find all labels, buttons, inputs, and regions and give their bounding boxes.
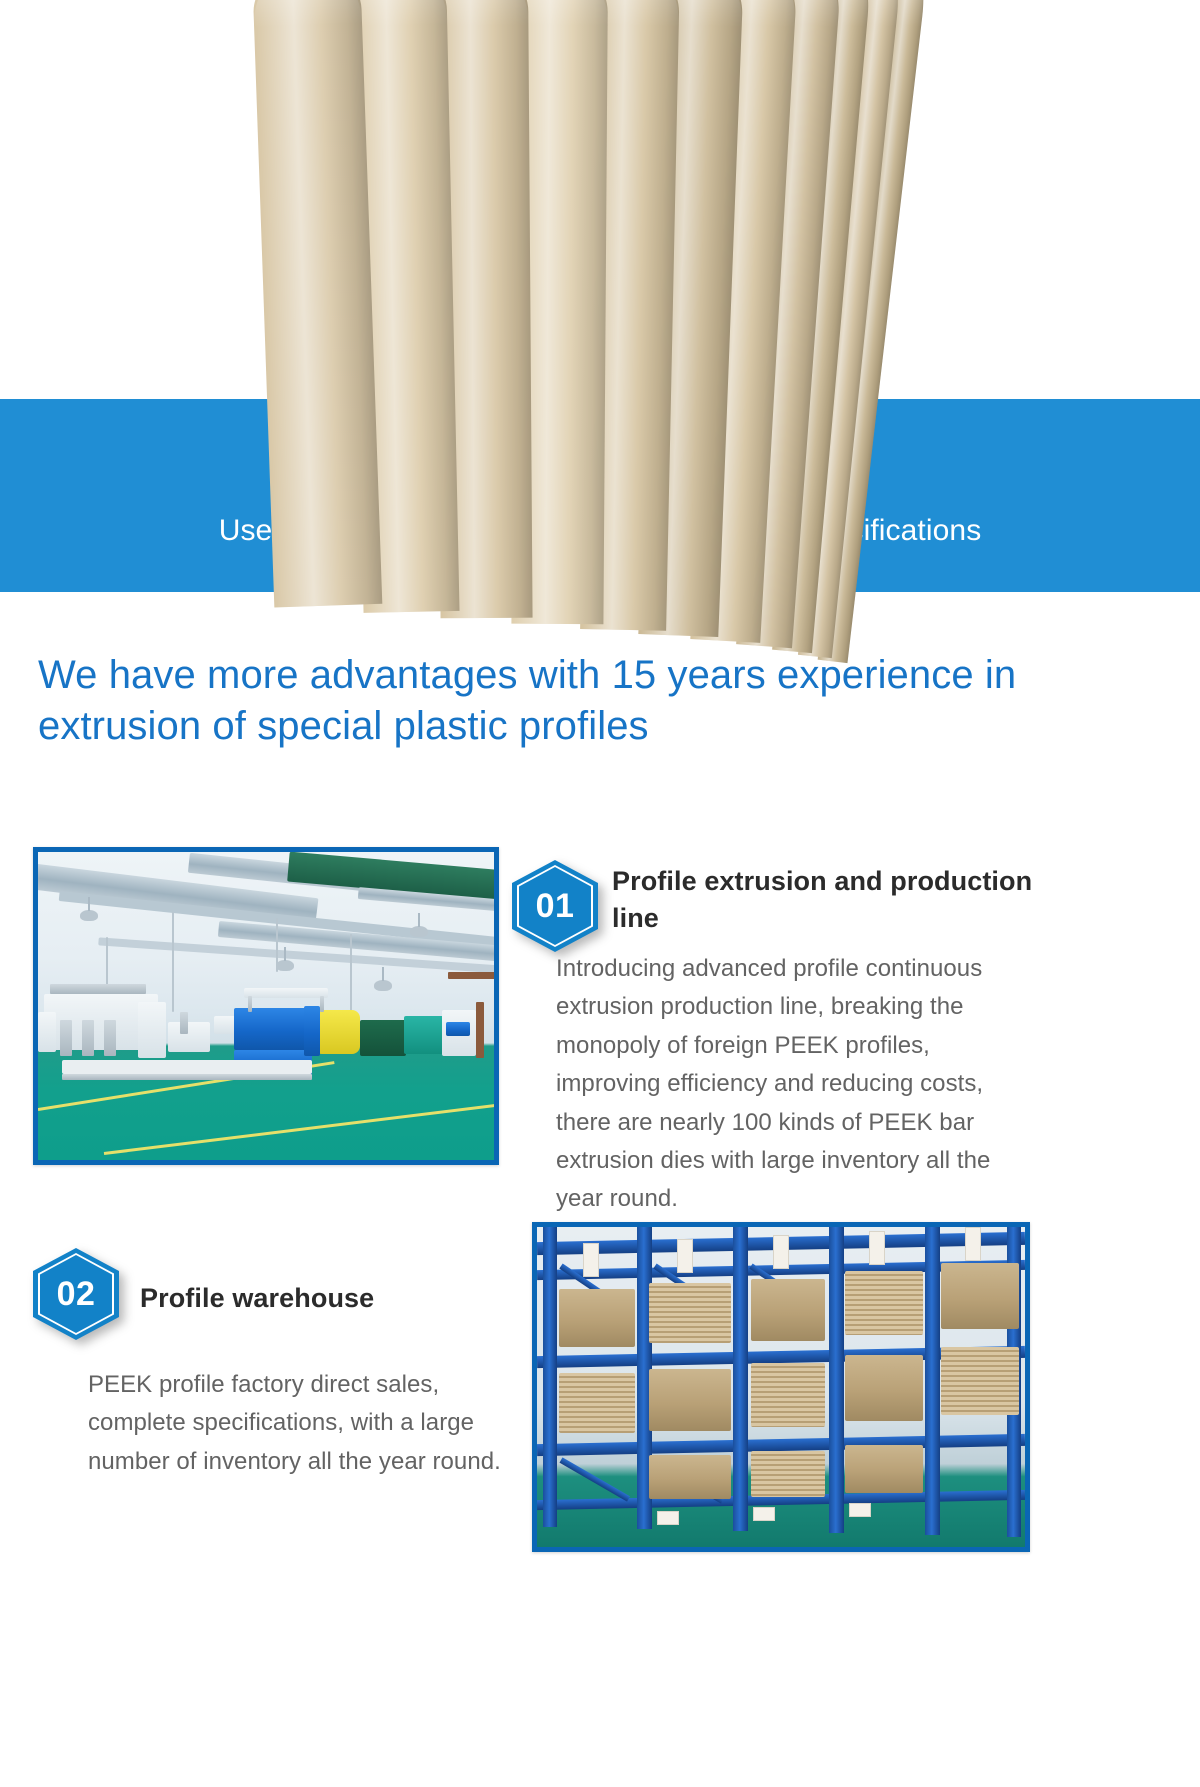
feature-02-number: 02 xyxy=(57,1277,96,1311)
feature-02-number-badge: 02 xyxy=(33,1248,119,1340)
feature-01-title: Profile extrusion and production line xyxy=(612,863,1052,938)
feature-01-body: Introducing advanced profile continuous … xyxy=(556,950,1030,1219)
feature-02-title: Profile warehouse xyxy=(140,1280,520,1317)
feature-01-number-badge: 01 xyxy=(512,860,598,952)
peek-rod xyxy=(252,0,382,607)
feature-02-photo xyxy=(537,1227,1025,1547)
feature-02-photo-frame xyxy=(532,1222,1030,1552)
feature-01-photo xyxy=(38,852,494,1160)
peek-rods-product-page: PEEK rods Used for processing PEEK parts… xyxy=(0,0,1200,1787)
feature-01-photo-frame xyxy=(33,847,499,1165)
hero-product-image: PEEK rods Used for processing PEEK parts… xyxy=(0,0,1200,672)
feature-02-body: PEEK profile factory direct sales, compl… xyxy=(88,1366,518,1481)
page-headline: We have more advantages with 15 years ex… xyxy=(38,650,1048,752)
feature-01-number: 01 xyxy=(536,889,575,923)
